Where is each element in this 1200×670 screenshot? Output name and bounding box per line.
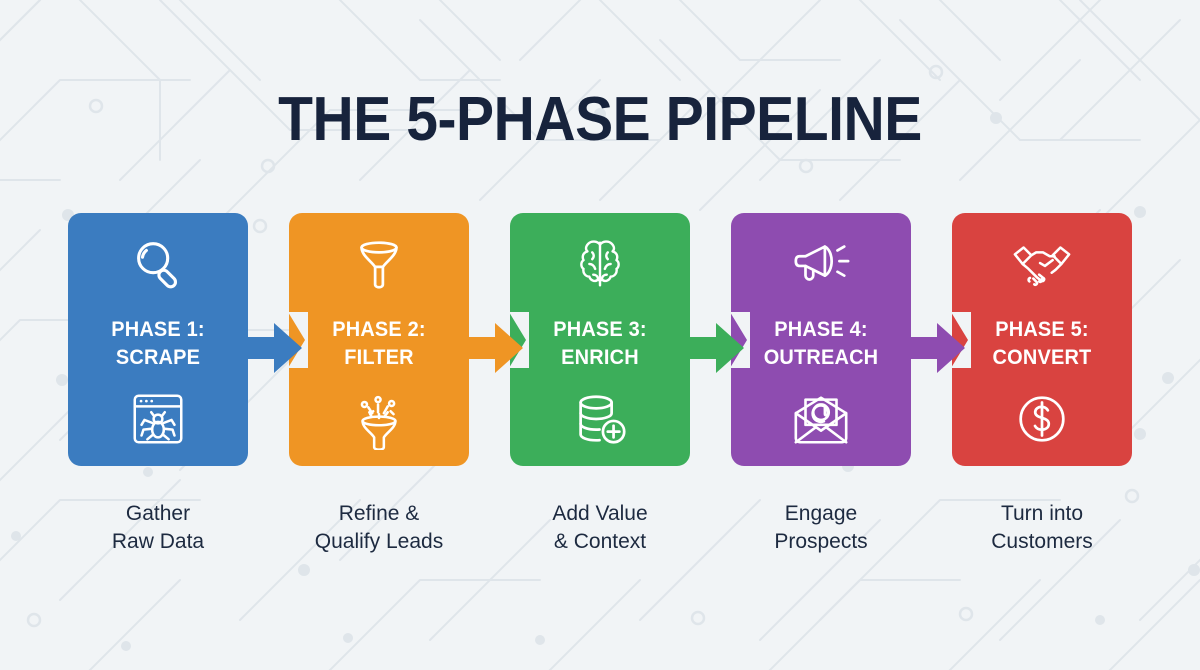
caption-line1: Add Value — [552, 502, 647, 525]
phase-label-1: PHASE 1:SCRAPE — [73, 316, 244, 373]
infographic-canvas: THE 5-PHASE PIPELINE PHASE 1:SCRAPE PHAS… — [0, 0, 1200, 670]
phase-label-line1: PHASE 5: — [995, 318, 1089, 341]
phase-caption-1: GatherRaw Data — [68, 500, 248, 557]
phase-label-3: PHASE 3:ENRICH — [515, 316, 686, 373]
phase-label-line1: PHASE 1: — [111, 318, 205, 341]
phase-card-2[interactable]: PHASE 2:FILTER — [289, 213, 469, 466]
phase-card-5[interactable]: PHASE 5:CONVERT — [952, 213, 1132, 466]
arrow-phase1-to-phase2 — [240, 321, 302, 375]
phase-caption-3: Add Value& Context — [510, 500, 690, 557]
phase-label-line1: PHASE 2: — [332, 318, 426, 341]
phase-caption-4: EngageProspects — [731, 500, 911, 557]
phase-caption-5: Turn intoCustomers — [952, 500, 1132, 557]
phase-card-3[interactable]: PHASE 3:ENRICH — [510, 213, 690, 466]
arrow-phase2-to-phase3 — [461, 321, 523, 375]
phase-label-line2: OUTREACH — [736, 344, 907, 372]
arrow-phase3-to-phase4 — [682, 321, 744, 375]
phase-label-5: PHASE 5:CONVERT — [957, 316, 1128, 373]
phase-label-line1: PHASE 3: — [553, 318, 647, 341]
phase-caption-2: Refine &Qualify Leads — [289, 500, 469, 557]
phase-label-2: PHASE 2:FILTER — [294, 316, 465, 373]
arrow-phase4-to-phase5 — [903, 321, 965, 375]
phase-label-line2: FILTER — [294, 344, 465, 372]
caption-line1: Engage — [785, 502, 857, 525]
envelope-at-sign-icon — [790, 388, 852, 450]
caption-line2: Prospects — [731, 528, 911, 556]
phase-label-line2: CONVERT — [957, 344, 1128, 372]
funnel-icon — [348, 233, 410, 295]
caption-line2: Raw Data — [68, 528, 248, 556]
caption-line1: Gather — [126, 502, 190, 525]
phase-label-line2: ENRICH — [515, 344, 686, 372]
dollar-coin-icon — [1011, 388, 1073, 450]
funnel-filtering-particles-icon — [348, 388, 410, 450]
magnifying-glass-icon — [127, 233, 189, 295]
caption-line2: Qualify Leads — [289, 528, 469, 556]
pipeline-row: PHASE 1:SCRAPE PHASE 2:FILTER — [68, 213, 1132, 466]
handshake-icon — [1011, 233, 1073, 295]
caption-line1: Refine & — [339, 502, 420, 525]
page-title: THE 5-PHASE PIPELINE — [48, 84, 1152, 155]
browser-window-spider-icon — [127, 388, 189, 450]
captions-row: GatherRaw DataRefine &Qualify LeadsAdd V… — [68, 500, 1132, 580]
phase-label-line1: PHASE 4: — [774, 318, 868, 341]
phase-label-line2: SCRAPE — [73, 344, 244, 372]
database-plus-icon — [569, 388, 631, 450]
phase-label-4: PHASE 4:OUTREACH — [736, 316, 907, 373]
caption-line1: Turn into — [1001, 502, 1083, 525]
brain-icon — [569, 233, 631, 295]
megaphone-icon — [790, 233, 852, 295]
caption-line2: & Context — [510, 528, 690, 556]
phase-card-1[interactable]: PHASE 1:SCRAPE — [68, 213, 248, 466]
phase-card-4[interactable]: PHASE 4:OUTREACH — [731, 213, 911, 466]
caption-line2: Customers — [952, 528, 1132, 556]
